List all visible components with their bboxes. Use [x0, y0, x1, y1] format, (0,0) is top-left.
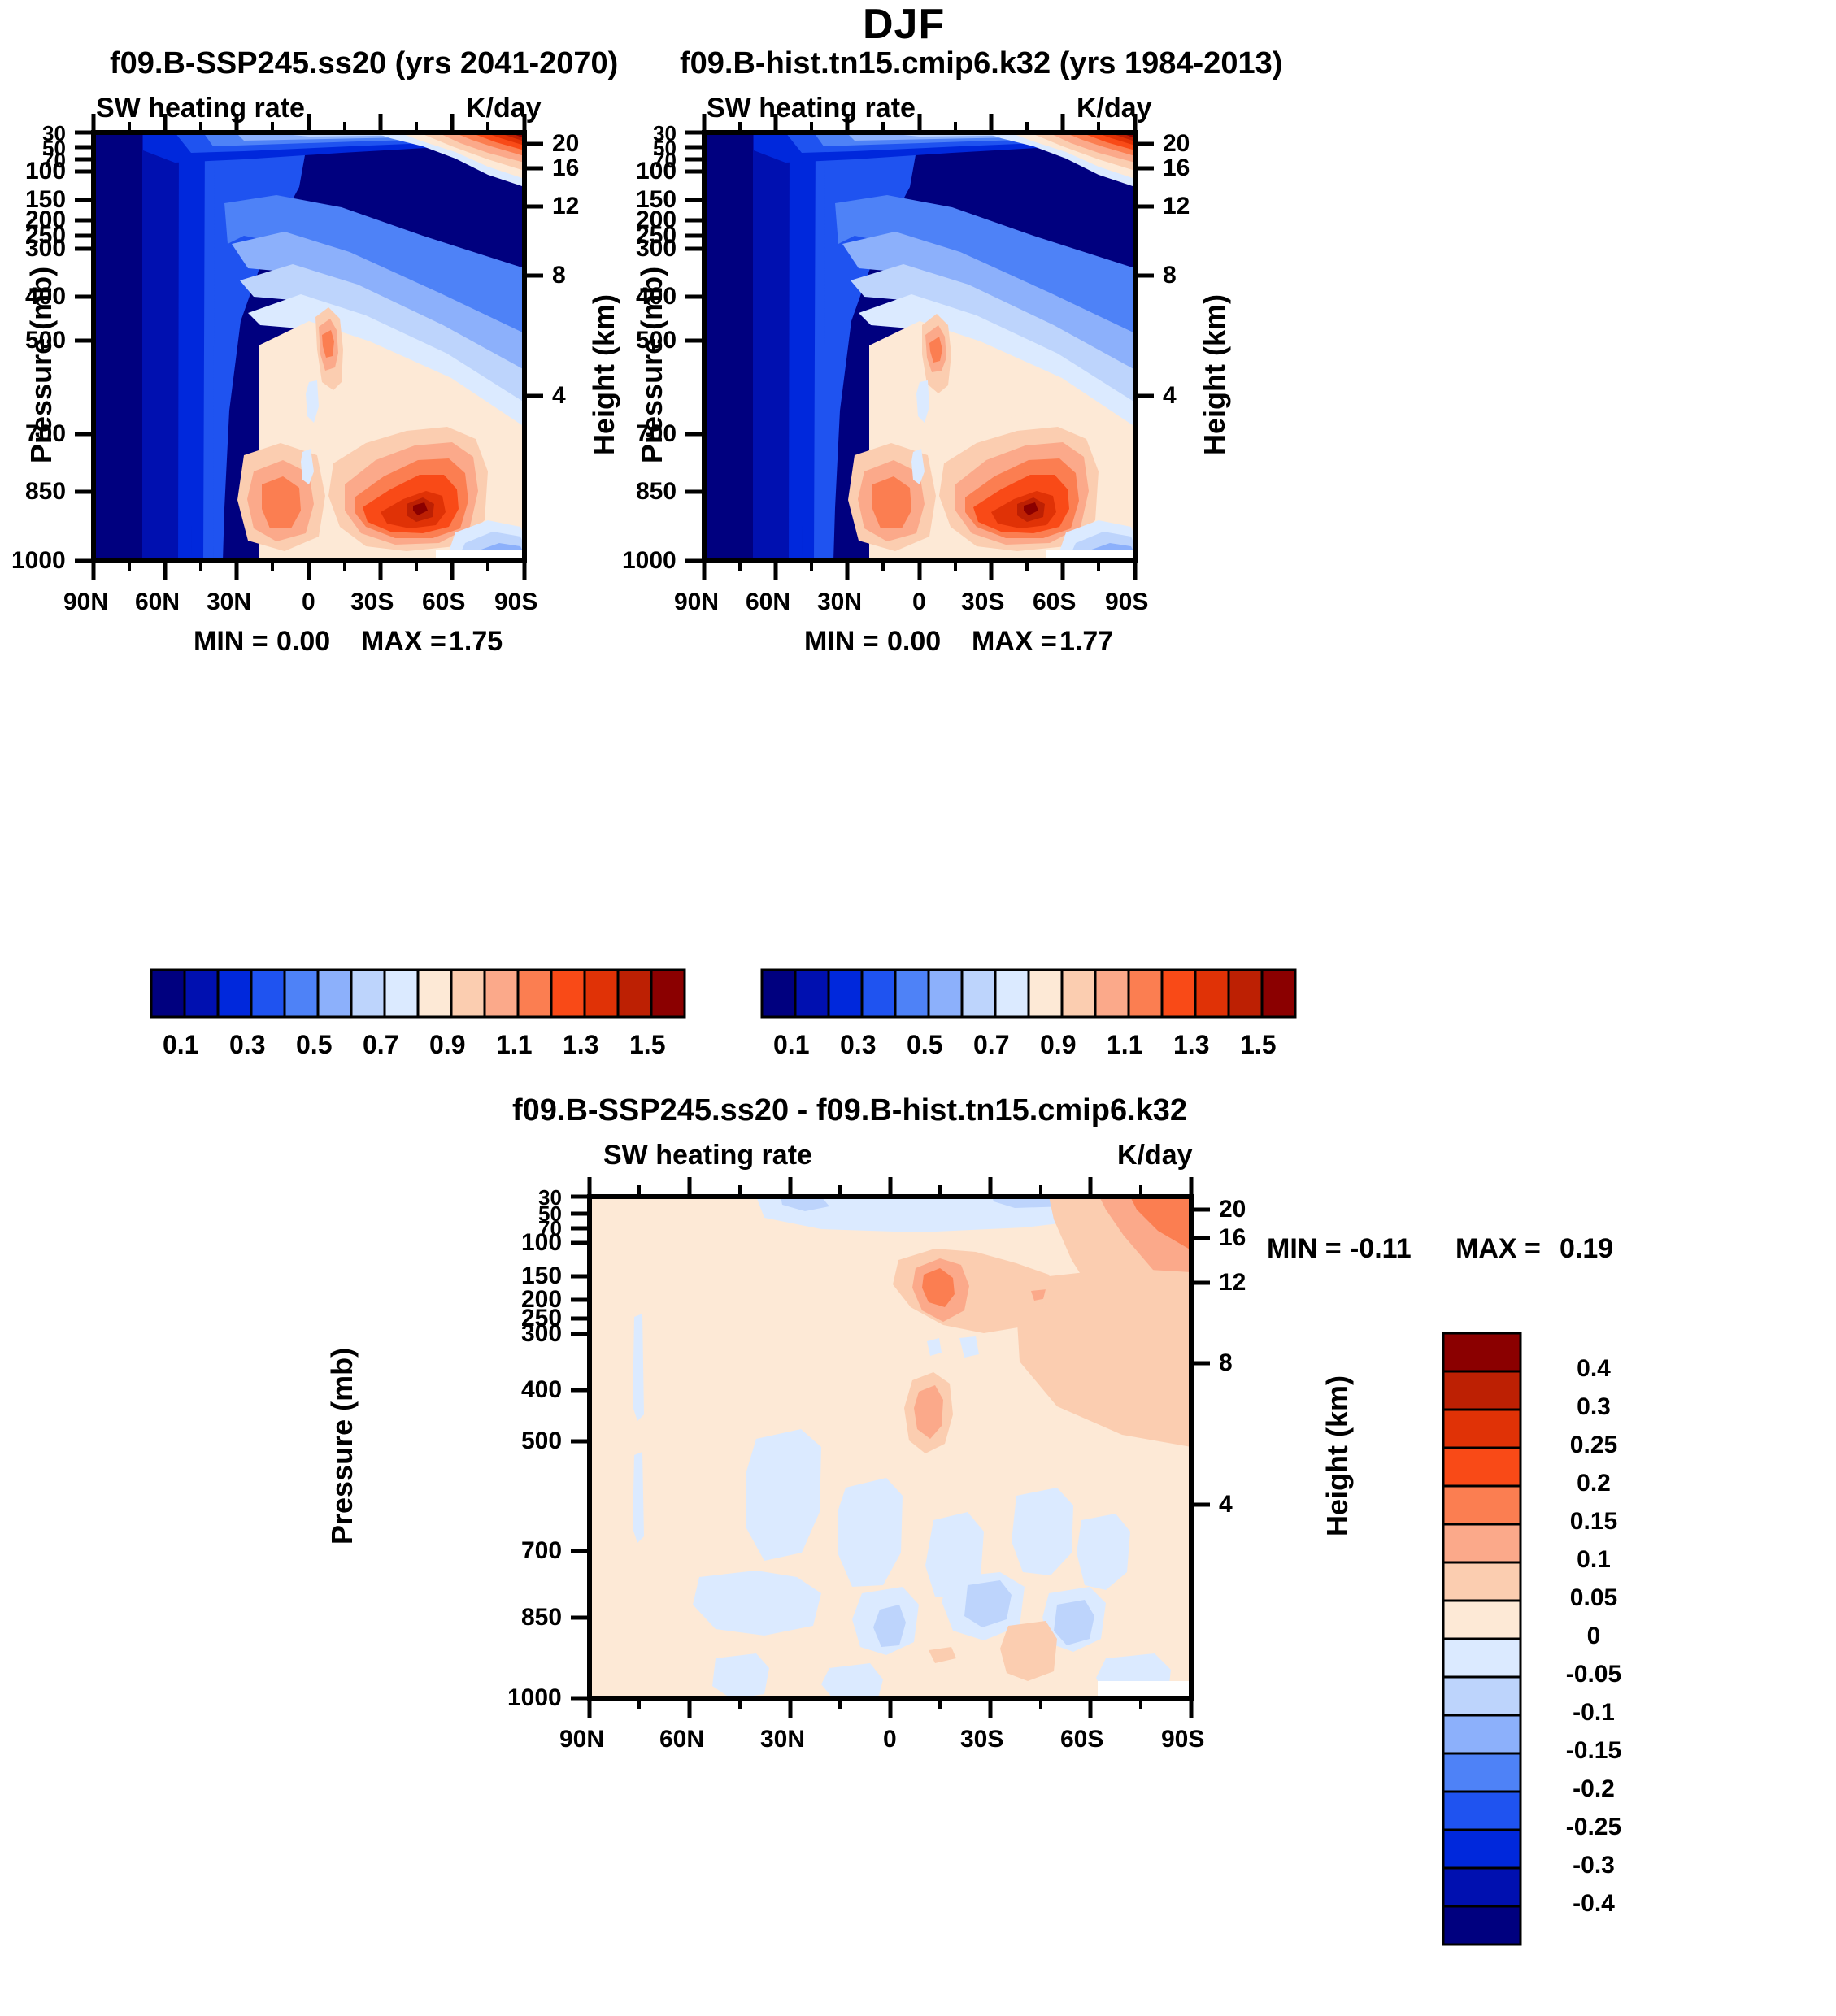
colorbar-swatch: [795, 970, 829, 1017]
panel-case2-ptick-300: 300: [636, 235, 677, 263]
panel-diff-htick-12: 12: [1219, 1269, 1246, 1297]
colorbar-swatch: [1162, 970, 1195, 1017]
panel-diff-min-value: -0.11: [1350, 1233, 1412, 1265]
panel-case1-contour-field: [94, 133, 524, 561]
colorbar-swatch: [418, 970, 451, 1017]
colorbar-swatch: [962, 970, 995, 1017]
colorbar-tick-label: 0.05: [1545, 1584, 1642, 1612]
panel-diff-max-label: MAX =: [1455, 1233, 1541, 1265]
colorbar-tick-label: 0.3: [840, 1030, 876, 1060]
colorbar-tick-label: 0.7: [363, 1030, 398, 1060]
colorbar-tick-label: 0.2: [1545, 1470, 1642, 1497]
panel-case2-contour-field: [704, 133, 1135, 561]
colorbar-swatch: [585, 970, 618, 1017]
panel-diff-min-label: MIN =: [1267, 1233, 1342, 1265]
panel-case1-htick-20: 20: [552, 130, 579, 158]
panel-diff-lat-90N: 90N: [559, 1726, 604, 1753]
panel-case1-lat-30S: 30S: [350, 589, 394, 616]
panel-case1-lat-90S: 90S: [494, 589, 537, 616]
panel-case2-max-label: MAX =: [972, 626, 1057, 658]
panel-case2-y2-axis-label: Height (km): [1198, 294, 1232, 455]
panel-case1-htick-8: 8: [552, 262, 566, 289]
colorbar-swatch: [285, 970, 318, 1017]
panel-case2-ptick-850: 850: [636, 478, 677, 506]
colorbar-tick-label: -0.1: [1545, 1699, 1642, 1727]
colorbar-swatch: [451, 970, 485, 1017]
panel-case1-lat-30N: 30N: [207, 589, 251, 616]
colorbar-tick-label: 0.5: [296, 1030, 332, 1060]
panel-case2-lat-30S: 30S: [961, 589, 1004, 616]
colorbar-swatch: [1443, 1830, 1521, 1868]
colorbar-tick-label: -0.2: [1545, 1775, 1642, 1803]
colorbar-swatch: [1262, 970, 1295, 1017]
colorbar-swatch: [1443, 1562, 1521, 1601]
colorbar-tick-label: 0.1: [1545, 1546, 1642, 1574]
panel-case2-ptick-1000: 1000: [622, 547, 677, 575]
panel-case2-title: f09.B-hist.tn15.cmip6.k32 (yrs 1984-2013…: [680, 46, 1282, 81]
colorbar-tick-label: 1.5: [629, 1030, 665, 1060]
panel-case1-htick-4: 4: [552, 382, 566, 410]
colorbar-tick-label: 0.25: [1545, 1432, 1642, 1459]
figure-root: DJF f09.B-SSP245.ss20 (yrs 2041-2070) SW…: [0, 0, 1836, 1938]
panel-case2-lat-30N: 30N: [817, 589, 862, 616]
panel-case2-lat-90S: 90S: [1105, 589, 1148, 616]
colorbar-swatch: [1443, 1371, 1521, 1410]
panel-case1-ptick-850: 850: [25, 478, 66, 506]
colorbar-tick-label: 0: [1545, 1623, 1642, 1650]
panel-case1-ptick-300: 300: [25, 235, 66, 263]
panel-case2-min-label: MIN =: [804, 626, 879, 658]
colorbar-swatch: [1443, 1715, 1521, 1753]
colorbar-difference[interactable]: [1443, 1333, 1521, 1944]
panel-diff-ptick-500: 500: [521, 1427, 562, 1455]
panel-case2-htick-8: 8: [1163, 262, 1177, 289]
panel-case2-htick-4: 4: [1163, 382, 1177, 410]
panel-diff-htick-16: 16: [1219, 1224, 1246, 1252]
colorbar-swatch: [551, 970, 585, 1017]
colorbar-tick-label: 0.9: [429, 1030, 465, 1060]
colorbar-tick-label: -0.3: [1545, 1852, 1642, 1879]
colorbar-swatch: [1129, 970, 1162, 1017]
panel-case1-min-label: MIN =: [194, 626, 268, 658]
colorbar-swatch: [1443, 1486, 1521, 1524]
panel-case1-ptick-500: 500: [25, 327, 66, 354]
panel-diff-lat-30S: 30S: [960, 1726, 1003, 1753]
panel-case2-lat-90N: 90N: [674, 589, 719, 616]
colorbar-swatch: [518, 970, 551, 1017]
colorbar-swatch: [185, 970, 218, 1017]
colorbar-swatch: [862, 970, 895, 1017]
panels-top-svg: [0, 0, 1836, 1089]
panel-case2-max-value: 1.77: [1059, 626, 1113, 658]
colorbar-swatch: [1229, 970, 1262, 1017]
colorbar-swatch: [1443, 1601, 1521, 1639]
panel-case1-lat-90N: 90N: [63, 589, 108, 616]
panel-diff-htick-20: 20: [1219, 1196, 1246, 1223]
panel-diff-htick-8: 8: [1219, 1349, 1233, 1377]
colorbar-tick-label: 0.3: [1545, 1393, 1642, 1421]
panel-case1-lat-0: 0: [302, 589, 315, 616]
panel-diff-ptick-700: 700: [521, 1537, 562, 1565]
colorbar-swatch: [762, 970, 795, 1017]
colorbar-swatch: [1062, 970, 1095, 1017]
colorbar-swatch: [1029, 970, 1062, 1017]
colorbar-swatch: [995, 970, 1029, 1017]
panel-diff-max-value: 0.19: [1560, 1233, 1613, 1265]
panel-case1-ptick-1000: 1000: [11, 547, 66, 575]
colorbar-tick-label: 1.5: [1240, 1030, 1276, 1060]
panel-case1-lat-60S: 60S: [422, 589, 465, 616]
panel-case2-ptick-100: 100: [636, 158, 677, 185]
panel-case2-ptick-400: 400: [636, 283, 677, 311]
colorbar-swatch: [1443, 1906, 1521, 1944]
colorbar-tick-label: 1.3: [1173, 1030, 1209, 1060]
colorbar-swatch: [929, 970, 962, 1017]
colorbar-absolute-right[interactable]: [762, 970, 1295, 1017]
colorbar-swatch: [1443, 1448, 1521, 1486]
panel-case1-lat-60N: 60N: [135, 589, 180, 616]
panel-diff-ptick-300: 300: [521, 1320, 562, 1348]
panel-diff-lat-30N: 30N: [760, 1726, 805, 1753]
colorbar-tick-label: -0.15: [1545, 1737, 1642, 1765]
panel-case2-ptick-500: 500: [636, 327, 677, 354]
colorbar-absolute-left[interactable]: [151, 970, 685, 1017]
colorbar-swatch: [218, 970, 251, 1017]
colorbar-tick-label: 0.7: [973, 1030, 1009, 1060]
colorbar-swatch: [1443, 1792, 1521, 1830]
colorbar-tick-label: 1.1: [496, 1030, 532, 1060]
panel-diff-ptick-400: 400: [521, 1376, 562, 1404]
panel-case1-htick-16: 16: [552, 154, 579, 182]
panel-diff-contour-field: [590, 1197, 1191, 1699]
colorbar-swatch: [1443, 1410, 1521, 1448]
colorbar-swatch: [1443, 1868, 1521, 1906]
panel-case1-htick-12: 12: [552, 193, 579, 220]
colorbar-swatch: [151, 970, 185, 1017]
colorbar-tick-label: 0.9: [1040, 1030, 1076, 1060]
panel-diff-ptick-1000: 1000: [507, 1684, 562, 1712]
colorbar-swatch: [1443, 1677, 1521, 1715]
colorbar-swatch: [829, 970, 862, 1017]
colorbar-swatch: [1443, 1753, 1521, 1792]
colorbar-tick-label: 0.1: [773, 1030, 809, 1060]
panel-case2-htick-12: 12: [1163, 193, 1190, 220]
panel-case2-min-value: 0.00: [887, 626, 941, 658]
colorbar-tick-label: 0.15: [1545, 1508, 1642, 1536]
panel-case1-ptick-100: 100: [25, 158, 66, 185]
panel-case1-ptick-700: 700: [25, 420, 66, 448]
colorbar-swatch: [1195, 970, 1229, 1017]
panel-diff-lat-0: 0: [883, 1726, 897, 1753]
panel-case2-lat-60N: 60N: [746, 589, 790, 616]
panel-case2-variable-label: SW heating rate: [707, 93, 916, 124]
panel-case1-min-value: 0.00: [276, 626, 330, 658]
panel-diff-htick-4: 4: [1219, 1491, 1233, 1519]
panel-case2-lat-60S: 60S: [1033, 589, 1076, 616]
colorbar-swatch: [1443, 1639, 1521, 1677]
panel-case2-htick-20: 20: [1163, 130, 1190, 158]
panel-case2-ptick-700: 700: [636, 420, 677, 448]
panel-case1-ptick-400: 400: [25, 283, 66, 311]
colorbar-swatch: [485, 970, 518, 1017]
colorbar-tick-label: 0.1: [163, 1030, 198, 1060]
colorbar-swatch: [318, 970, 351, 1017]
colorbar-tick-label: 0.5: [907, 1030, 942, 1060]
colorbar-tick-label: -0.25: [1545, 1814, 1642, 1841]
colorbar-tick-label: 0.3: [229, 1030, 265, 1060]
panel-case2-lat-0: 0: [912, 589, 926, 616]
panel-diff-ptick-100: 100: [521, 1229, 562, 1257]
panel-diff-variable-label: SW heating rate: [603, 1140, 812, 1171]
colorbar-swatch: [1443, 1333, 1521, 1371]
colorbar-swatch: [895, 970, 929, 1017]
panel-diff-lat-60N: 60N: [659, 1726, 704, 1753]
colorbar-swatch: [251, 970, 285, 1017]
colorbar-tick-label: -0.05: [1545, 1661, 1642, 1688]
colorbar-swatch: [651, 970, 685, 1017]
panel-case1-max-label: MAX =: [361, 626, 446, 658]
panel-case2-units-label: K/day: [1077, 93, 1152, 124]
colorbar-tick-label: 1.3: [563, 1030, 598, 1060]
colorbar-swatch: [618, 970, 651, 1017]
panel-case2-htick-16: 16: [1163, 154, 1190, 182]
colorbar-swatch: [1443, 1524, 1521, 1562]
colorbar-tick-label: 0.4: [1545, 1355, 1642, 1383]
colorbar-swatch: [385, 970, 418, 1017]
panel-diff-units-label: K/day: [1117, 1140, 1193, 1171]
panel-diff-lat-60S: 60S: [1060, 1726, 1103, 1753]
colorbar-tick-label: 1.1: [1107, 1030, 1142, 1060]
panel-diff-title: f09.B-SSP245.ss20 - f09.B-hist.tn15.cmip…: [512, 1093, 1187, 1128]
panel-case1-max-value: 1.75: [449, 626, 503, 658]
colorbar-tick-label: -0.4: [1545, 1890, 1642, 1918]
panel-diff-ptick-850: 850: [521, 1604, 562, 1631]
colorbar-swatch: [351, 970, 385, 1017]
colorbar-swatch: [1095, 970, 1129, 1017]
panel-diff-lat-90S: 90S: [1161, 1726, 1204, 1753]
